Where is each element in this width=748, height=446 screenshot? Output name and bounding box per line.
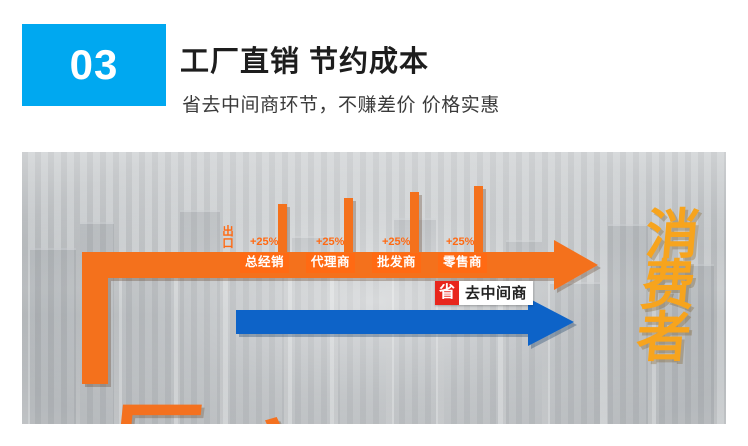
step-number-badge: 03: [22, 24, 166, 106]
markup-3: +25%: [382, 236, 410, 248]
markup-4: +25%: [446, 236, 474, 248]
skip-middleman-text: 去中间商: [459, 281, 533, 305]
page-title: 工厂直销 节约成本: [180, 38, 429, 80]
markup-2: +25%: [316, 236, 344, 248]
factory-bracket-shape: [82, 252, 218, 384]
chain-node-3: 批发商: [372, 253, 421, 273]
big-word-home: 家: [213, 420, 328, 424]
direct-sale-arrow: [234, 298, 574, 346]
chain-node-1: 总经销: [240, 253, 289, 273]
skip-middleman-highlight: 省: [435, 281, 459, 305]
consumer-label: 消费者: [615, 210, 720, 364]
header-section: 03 工厂直销 节约成本 省去中间商环节，不赚差价 价格实惠: [0, 0, 748, 152]
skip-middleman-banner: 省 去中间商: [435, 281, 533, 305]
chain-node-4: 零售商: [438, 253, 487, 273]
markup-1: +25%: [250, 236, 278, 248]
distribution-chain-diagram: 出口 +25% +25% +25% +25% 总经销 代理商 批发商 零售商 省…: [22, 152, 726, 424]
promo-banner: 03 工厂直销 节约成本 省去中间商环节，不赚差价 价格实惠: [0, 0, 748, 446]
illustration-panel: 出口 +25% +25% +25% +25% 总经销 代理商 批发商 零售商 省…: [22, 152, 726, 424]
chain-node-2: 代理商: [306, 253, 355, 273]
page-subtitle: 省去中间商环节，不赚差价 价格实惠: [182, 90, 500, 117]
exit-label: 出口: [221, 226, 235, 250]
big-word-factory: 厂: [101, 400, 207, 424]
